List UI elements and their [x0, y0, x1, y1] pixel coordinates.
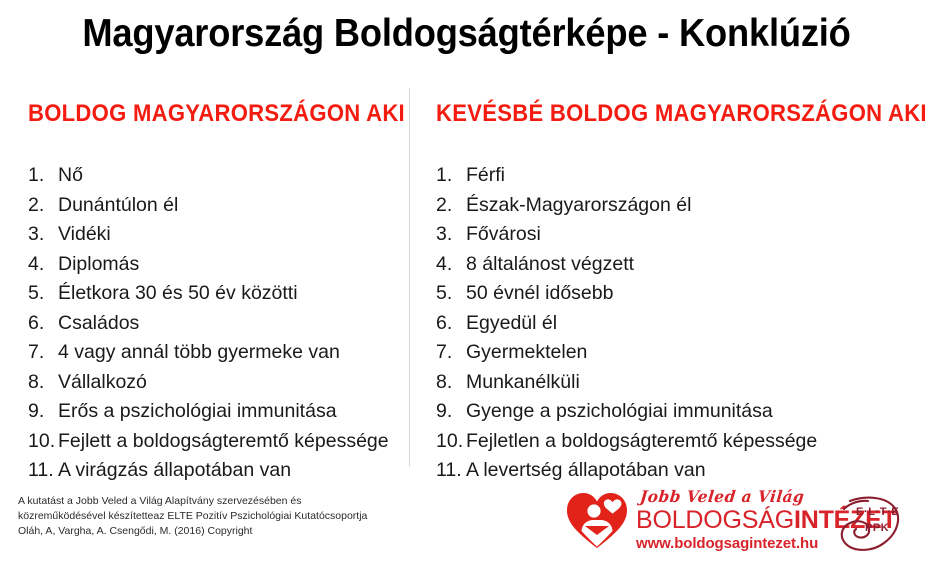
list-item: 6.Egyedül él — [436, 314, 916, 344]
list-item: 1.Férfi — [436, 166, 916, 196]
list-item-label: Diplomás — [58, 255, 139, 275]
column-heading-happy: BOLDOG MAGYARORSZÁGON AKI — [28, 100, 370, 128]
list-item-label: Munkanélküli — [466, 373, 580, 393]
list-item-label: 8 általánost végzett — [466, 255, 634, 275]
list-item: 7.Gyermektelen — [436, 343, 916, 373]
list-item-number: 5. — [28, 284, 58, 304]
list-item-number: 3. — [436, 225, 466, 245]
list-item: 9.Erős a pszichológiai immunitása — [28, 402, 400, 432]
list-item-number: 3. — [28, 225, 58, 245]
list-item-label: Fővárosi — [466, 225, 541, 245]
list-item-number: 8. — [436, 373, 466, 393]
elte-faculty: PPK — [865, 523, 899, 534]
column-divider — [409, 88, 410, 466]
list-item: 3.Fővárosi — [436, 225, 916, 255]
list-item-label: Dunántúlon él — [58, 196, 178, 216]
boldogsagintezet-wordmark: Jobb Veled a Világ BOLDOGSÁGINTÉZET www.… — [636, 489, 826, 552]
list-item-label: A virágzás állapotában van — [58, 461, 291, 481]
list-item-label: 4 vagy annál több gyermeke van — [58, 343, 340, 363]
credit-line-1: A kutatást a Jobb Veled a Világ Alapítvá… — [18, 494, 418, 509]
logo-word-light: BOLDOGSÁG — [636, 506, 794, 534]
list-less-happy-traits: 1.Férfi2.Észak-Magyarországon él3.Főváro… — [436, 166, 916, 491]
list-item-number: 10. — [436, 432, 466, 452]
list-item: 8.Munkanélküli — [436, 373, 916, 403]
list-item-label: Vállalkozó — [58, 373, 147, 393]
list-item: 6.Családos — [28, 314, 400, 344]
heart-with-figure-icon — [566, 491, 628, 549]
list-item-number: 11. — [28, 461, 58, 481]
list-item: 9.Gyenge a pszichológiai immunitása — [436, 402, 916, 432]
list-item: 5.50 évnél idősebb — [436, 284, 916, 314]
list-item-label: A levertség állapotában van — [466, 461, 706, 481]
logo-url[interactable]: www.boldogsagintezet.hu — [636, 536, 826, 553]
column-happy: BOLDOG MAGYARORSZÁGON AKI 1.Nő2.Dunántúl… — [28, 100, 400, 491]
list-item-number: 6. — [436, 314, 466, 334]
list-item-label: Férfi — [466, 166, 505, 186]
list-item-label: Fejletlen a boldogságteremtő képessége — [466, 432, 817, 452]
list-item-number: 10. — [28, 432, 58, 452]
list-item: 10.Fejlett a boldogságteremtő képessége — [28, 432, 400, 462]
credit-line-3: Oláh, A, Vargha, A. Csengődi, M. (2016) … — [18, 524, 418, 539]
list-item-label: Gyenge a pszichológiai immunitása — [466, 402, 773, 422]
list-happy-traits: 1.Nő2.Dunántúlon él3.Vidéki4.Diplomás5.É… — [28, 166, 400, 491]
list-item-label: Egyedül él — [466, 314, 557, 334]
elte-name: E·L·T·E — [856, 507, 899, 518]
list-item: 1.Nő — [28, 166, 400, 196]
list-item: 8.Vállalkozó — [28, 373, 400, 403]
list-item-number: 9. — [436, 402, 466, 422]
list-item-number: 11. — [436, 461, 466, 481]
list-item-label: Nő — [58, 166, 83, 186]
list-item: 4.8 általánost végzett — [436, 255, 916, 285]
list-item-number: 1. — [28, 166, 58, 186]
list-item-number: 9. — [28, 402, 58, 422]
column-less-happy: KEVÉSBÉ BOLDOG MAGYARORSZÁGON AKI 1.Férf… — [436, 100, 916, 491]
list-item-number: 5. — [436, 284, 466, 304]
list-item-number: 1. — [436, 166, 466, 186]
list-item-label: Észak-Magyarországon él — [466, 196, 691, 216]
list-item: 11.A virágzás állapotában van — [28, 461, 400, 491]
list-item-label: Vidéki — [58, 225, 111, 245]
elte-text-block: E·L·T·E PPK — [856, 507, 899, 534]
list-item: 10.Fejletlen a boldogságteremtő képesség… — [436, 432, 916, 462]
list-item-number: 8. — [28, 373, 58, 393]
boldogsagintezet-logo: Jobb Veled a Világ BOLDOGSÁGINTÉZET www.… — [566, 489, 824, 559]
list-item: 2.Észak-Magyarországon él — [436, 196, 916, 226]
list-item-number: 4. — [28, 255, 58, 275]
list-item: 2.Dunántúlon él — [28, 196, 400, 226]
list-item-number: 2. — [436, 196, 466, 216]
list-item-label: Erős a pszichológiai immunitása — [58, 402, 337, 422]
list-item-label: Fejlett a boldogságteremtő képessége — [58, 432, 389, 452]
list-item-number: 7. — [28, 343, 58, 363]
list-item: 4.Diplomás — [28, 255, 400, 285]
logo-script-tagline: Jobb Veled a Világ — [639, 489, 819, 506]
list-item-number: 4. — [436, 255, 466, 275]
list-item: 3.Vidéki — [28, 225, 400, 255]
list-item: 5.Életkora 30 és 50 év közötti — [28, 284, 400, 314]
list-item-number: 2. — [28, 196, 58, 216]
elte-ppk-logo: E·L·T·E PPK — [828, 495, 920, 555]
list-item-label: 50 évnél idősebb — [466, 284, 613, 304]
credit-line-2: közreműködésével készítetteaz ELTE Pozit… — [18, 509, 418, 524]
credit-block: A kutatást a Jobb Veled a Világ Alapítvá… — [18, 494, 418, 540]
page-title: Magyarország Boldogságtérképe - Konklúzi… — [33, 12, 901, 56]
list-item-label: Családos — [58, 314, 139, 334]
list-item-label: Életkora 30 és 50 év közötti — [58, 284, 298, 304]
slide-canvas: Magyarország Boldogságtérképe - Konklúzi… — [0, 0, 933, 574]
column-heading-less-happy: KEVÉSBÉ BOLDOG MAGYARORSZÁGON AKI — [436, 100, 878, 128]
list-item-number: 6. — [28, 314, 58, 334]
logo-wordmark: BOLDOGSÁGINTÉZET — [636, 507, 826, 534]
list-item: 7.4 vagy annál több gyermeke van — [28, 343, 400, 373]
list-item-label: Gyermektelen — [466, 343, 587, 363]
list-item-number: 7. — [436, 343, 466, 363]
